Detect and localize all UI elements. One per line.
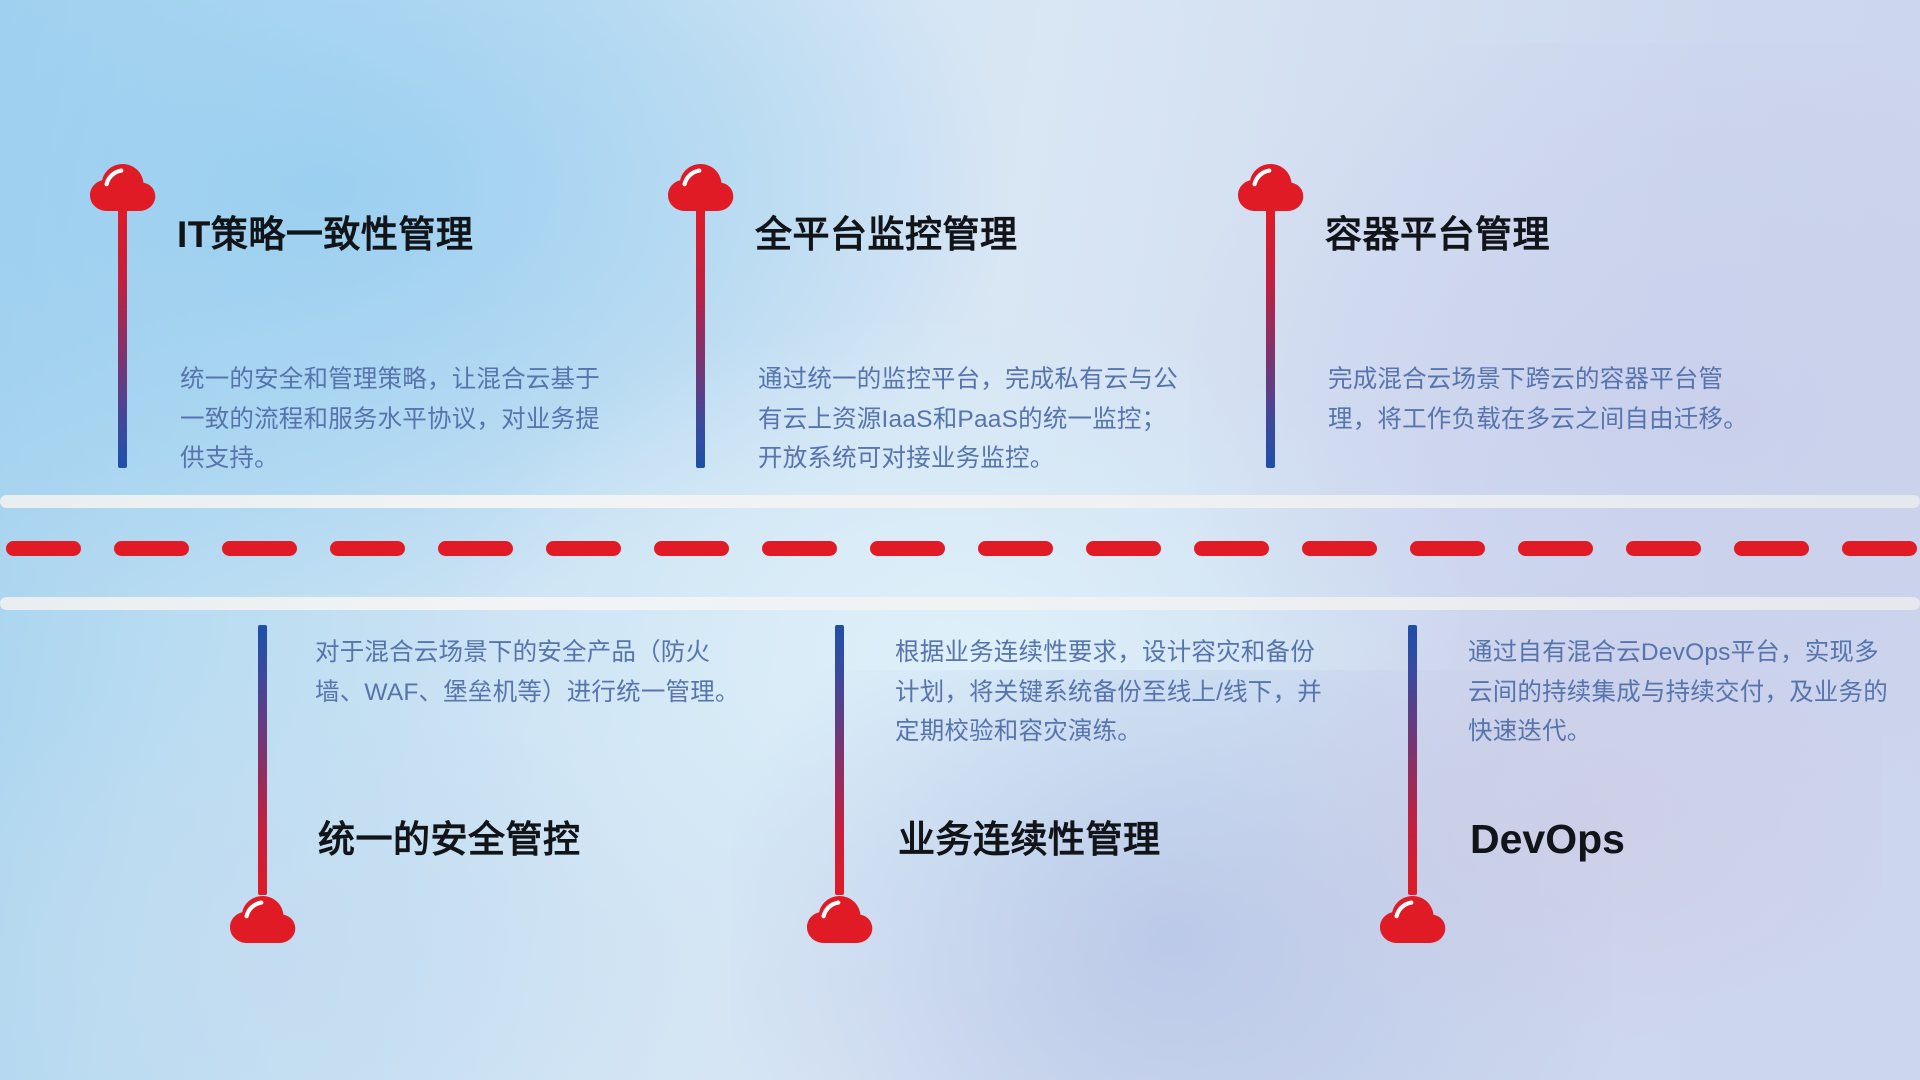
road-dash-segment (1086, 541, 1161, 556)
stem-line (118, 208, 127, 468)
stem-line (1408, 625, 1417, 895)
cloud-icon (1377, 890, 1449, 946)
node-heading: 容器平台管理 (1325, 213, 1550, 257)
road-dash-segment (6, 541, 81, 556)
cloud-icon (1235, 158, 1307, 214)
road-dash-segment (222, 541, 297, 556)
road-dash-segment (1302, 541, 1377, 556)
stem-line (258, 625, 267, 895)
road-dash-segment (1518, 541, 1593, 556)
road-dash-segment (1410, 541, 1485, 556)
road-dash-segment (1842, 541, 1917, 556)
cloud-icon (87, 158, 159, 214)
cloud-icon (665, 158, 737, 214)
road-dash-segment (438, 541, 513, 556)
node-heading: 统一的安全管控 (318, 818, 581, 862)
road-dash-segment (1194, 541, 1269, 556)
road-dash-segment (978, 541, 1053, 556)
road-dash-segment (1734, 541, 1809, 556)
node-heading: DevOps (1470, 815, 1625, 864)
road-dash-segment (654, 541, 729, 556)
road-dash-segment (114, 541, 189, 556)
stem-line (835, 625, 844, 895)
stem-line (1266, 208, 1275, 468)
node-body-text: 根据业务连续性要求，设计容灾和备份计划，将关键系统备份至线上/线下，并定期校验和… (895, 633, 1325, 752)
road-dash-segment (330, 541, 405, 556)
road-dash-segment (870, 541, 945, 556)
node-body-text: 对于混合云场景下的安全产品（防火墙、WAF、堡垒机等）进行统一管理。 (315, 633, 740, 712)
node-heading: 业务连续性管理 (898, 818, 1161, 862)
road-rail-top (0, 495, 1920, 508)
node-heading: IT策略一致性管理 (177, 213, 473, 257)
cloud-icon (227, 890, 299, 946)
road-dashed-centerline (0, 540, 1920, 556)
node-body-text: 完成混合云场景下跨云的容器平台管理，将工作负载在多云之间自由迁移。 (1328, 360, 1758, 439)
node-body-text: 统一的安全和管理策略，让混合云基于一致的流程和服务水平协议，对业务提供支持。 (180, 360, 605, 479)
road-rail-bottom (0, 597, 1920, 610)
road-dash-segment (546, 541, 621, 556)
node-body-text: 通过自有混合云DevOps平台，实现多云间的持续集成与持续交付，及业务的快速迭代… (1468, 633, 1893, 752)
road-dash-segment (1626, 541, 1701, 556)
stem-line (696, 208, 705, 468)
road-dash-segment (762, 541, 837, 556)
cloud-icon (804, 890, 876, 946)
infographic-stage: IT策略一致性管理 统一的安全和管理策略，让混合云基于一致的流程和服务水平协议，… (0, 0, 1920, 1080)
node-body-text: 通过统一的监控平台，完成私有云与公有云上资源IaaS和PaaS的统一监控；开放系… (758, 360, 1183, 479)
node-heading: 全平台监控管理 (755, 213, 1018, 257)
